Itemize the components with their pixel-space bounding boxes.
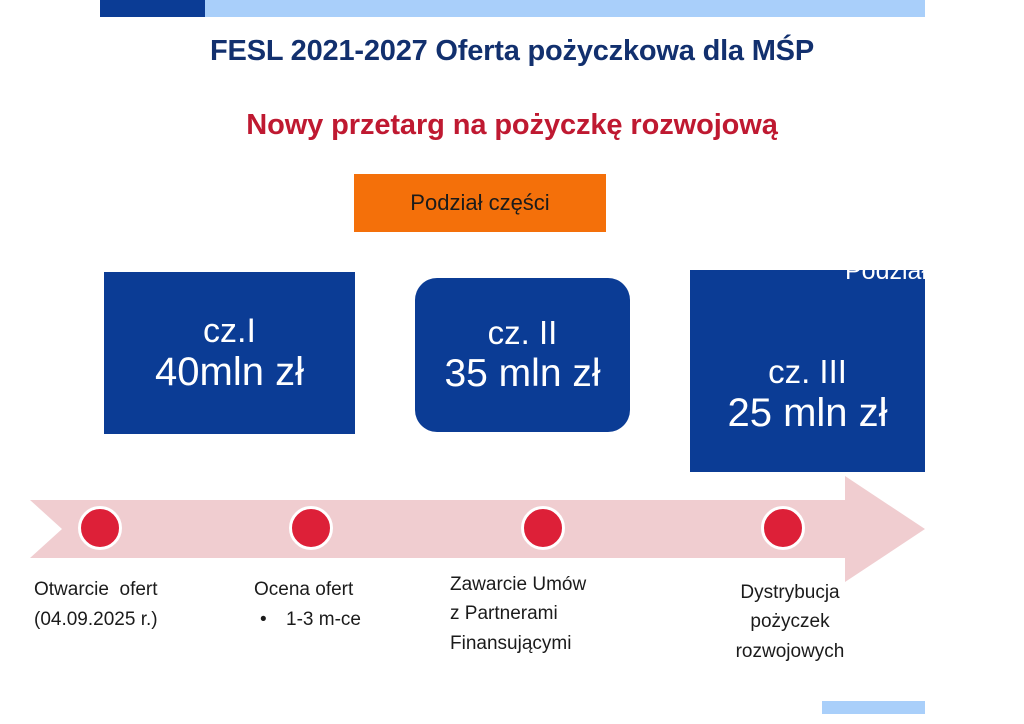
slide-canvas: FESL 2021-2027 Oferta pożyczkowa dla MŚP… <box>0 0 1024 724</box>
clipped-overlay-text: Podział <box>845 255 925 287</box>
timeline-caption-1: Otwarcie ofert (04.09.2025 r.) <box>34 575 249 636</box>
timeline-caption-4-line-3: rozwojowych <box>690 637 890 666</box>
timeline-caption-1-line-1: Otwarcie ofert <box>34 575 249 605</box>
timeline-arrow-shape <box>0 472 1024 586</box>
bullet-marker-icon: • <box>260 605 286 635</box>
timeline-caption-1-line-2: (04.09.2025 r.) <box>34 605 249 635</box>
timeline-dot-1 <box>78 506 122 550</box>
part-box-2-amount: 35 mln zł <box>444 352 600 396</box>
timeline-dot-2 <box>289 506 333 550</box>
part-box-2-label: cz. II <box>488 315 558 352</box>
timeline-dot-4 <box>761 506 805 550</box>
timeline-caption-4: Dystrybucja pożyczek rozwojowych <box>690 578 890 666</box>
timeline-caption-2-bullet-text: 1-3 m-ce <box>286 609 361 630</box>
part-box-1-amount: 40mln zł <box>155 350 304 395</box>
part-box-1: cz.I 40mln zł <box>104 272 355 434</box>
page-title: FESL 2021-2027 Oferta pożyczkowa dla MŚP <box>0 36 1024 68</box>
part-box-3: cz. III 25 mln zł <box>690 270 925 472</box>
timeline-caption-2-bullet: •1-3 m-ce <box>254 605 454 635</box>
timeline-caption-2-line-1: Ocena ofert <box>254 575 454 605</box>
part-box-2: cz. II 35 mln zł <box>415 278 630 432</box>
timeline-caption-3: Zawarcie Umów z Partnerami Finansującymi <box>450 570 680 658</box>
bottom-accent-bar-light <box>822 701 925 714</box>
part-box-1-label: cz.I <box>203 312 256 350</box>
page-subtitle: Nowy przetarg na pożyczkę rozwojową <box>0 110 1024 142</box>
timeline-caption-4-line-2: pożyczek <box>690 607 890 636</box>
timeline-caption-4-line-1: Dystrybucja <box>690 578 890 607</box>
timeline-caption-3-line-3: Finansującymi <box>450 629 680 658</box>
timeline-caption-3-line-2: z Partnerami <box>450 599 680 628</box>
top-accent-bar-dark <box>100 0 205 17</box>
timeline-caption-3-line-1: Zawarcie Umów <box>450 570 680 599</box>
timeline-arrow <box>0 472 1024 586</box>
top-accent-bar-light <box>205 0 925 17</box>
section-chip-podzial-czesci: Podział części <box>354 174 606 232</box>
part-box-3-amount: 25 mln zł <box>727 391 887 436</box>
timeline-caption-2: Ocena ofert •1-3 m-ce <box>254 575 454 636</box>
part-box-3-label: cz. III <box>768 354 847 391</box>
timeline-dot-3 <box>521 506 565 550</box>
section-chip-label: Podział części <box>410 192 549 214</box>
